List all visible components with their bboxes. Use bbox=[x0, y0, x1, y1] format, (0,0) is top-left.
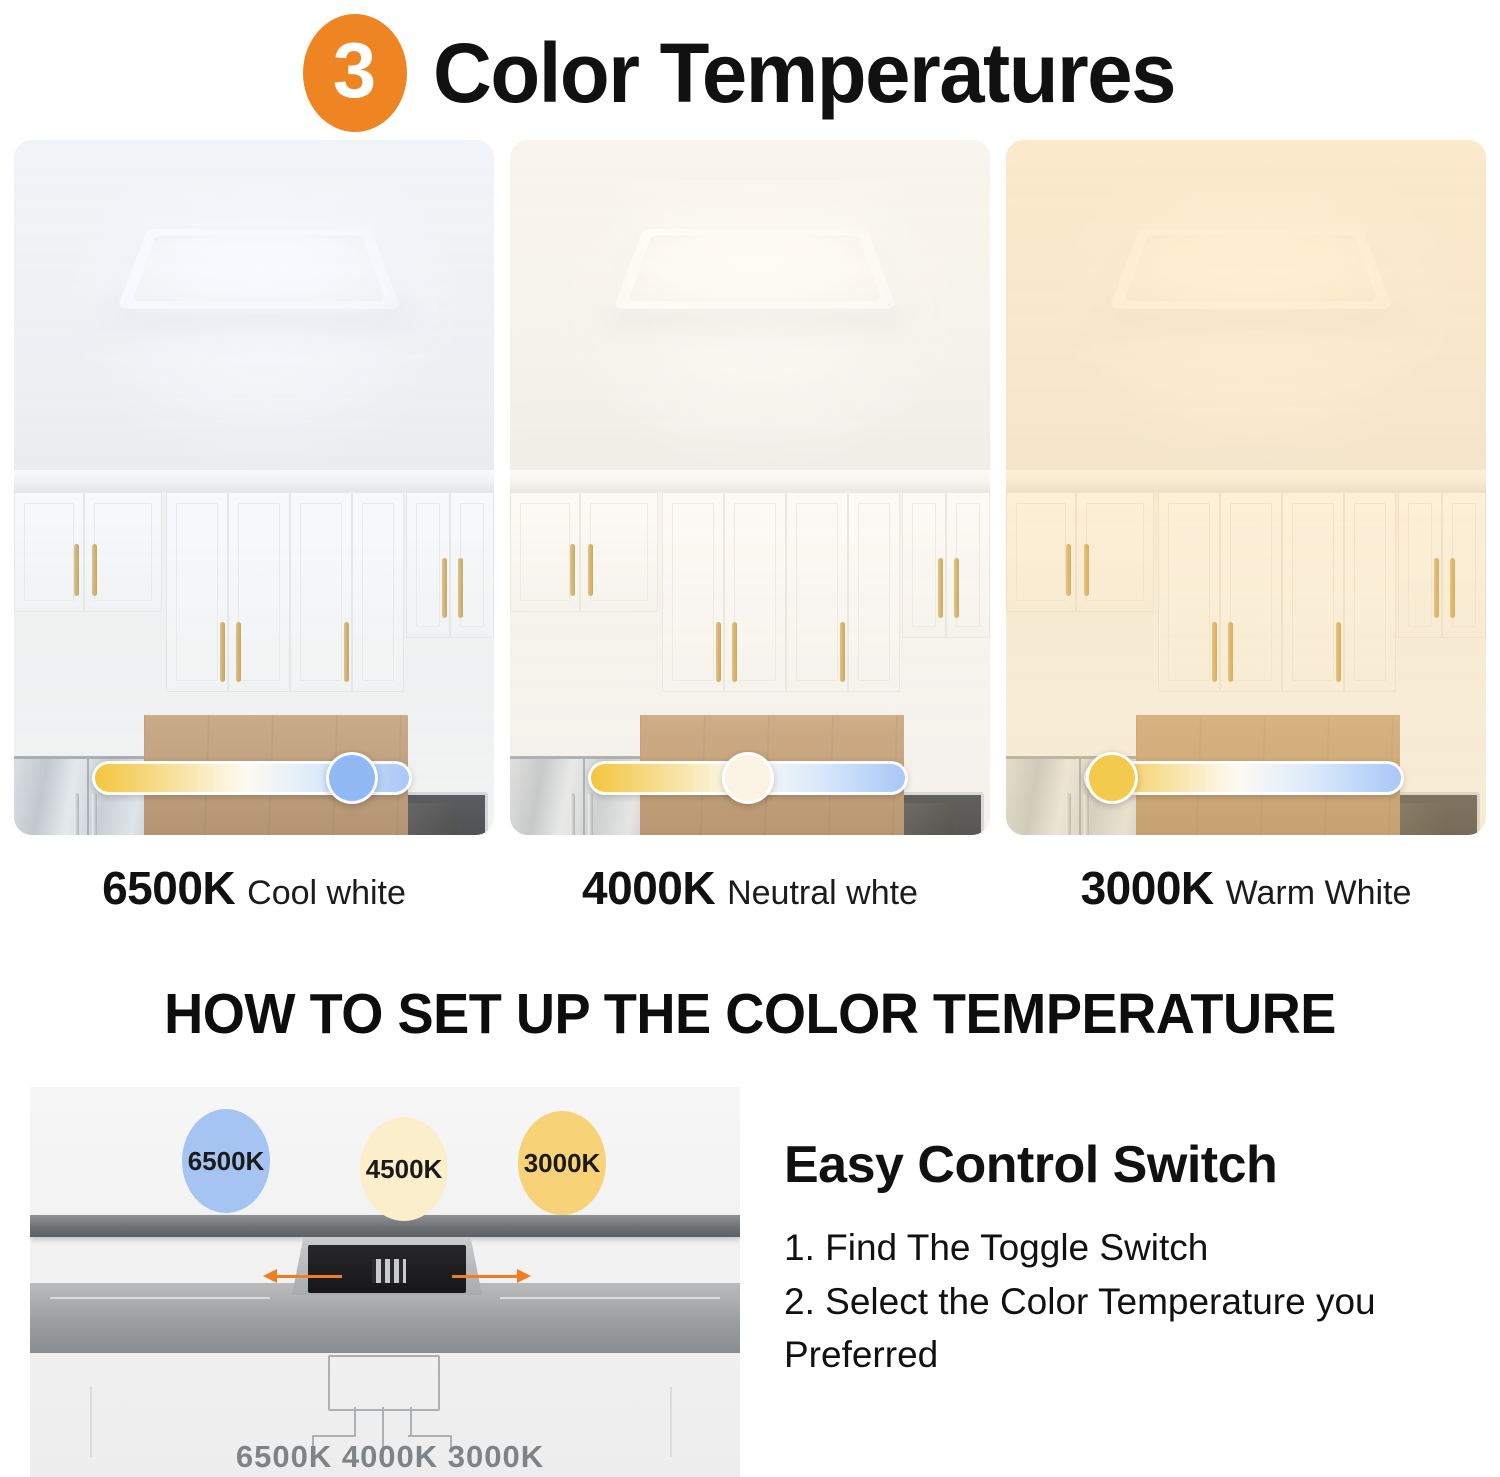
bubble-6500k: 6500K bbox=[182, 1109, 270, 1213]
switch-diagram: 6500K 4500K 3000K 6500K 4000K 3000K bbox=[30, 1087, 740, 1477]
kitchen-scene bbox=[14, 140, 494, 835]
instructions-steps: 1. Find The Toggle Switch 2. Select the … bbox=[784, 1221, 1460, 1382]
howto-section: 6500K 4500K 3000K 6500K 4000K 3000K Easy… bbox=[0, 1047, 1500, 1477]
caption-name: Neutral whte bbox=[727, 874, 918, 913]
panel-3000k: 3000K Warm White bbox=[1006, 140, 1486, 915]
howto-heading: HOW TO SET UP THE COLOR TEMPERATURE bbox=[38, 981, 1463, 1047]
bubble-label: 6500K bbox=[188, 1146, 265, 1177]
panel-caption: 6500K Cool white bbox=[14, 861, 494, 915]
led-ceiling-panel-icon bbox=[630, 200, 880, 328]
count-badge: 3 bbox=[303, 14, 407, 132]
panel-caption: 4000K Neutral whte bbox=[510, 861, 990, 915]
kitchen-photo-warm bbox=[1006, 140, 1486, 835]
kitchen-photo-cool bbox=[14, 140, 494, 835]
arrow-right-icon bbox=[452, 1275, 518, 1278]
arrow-left-icon bbox=[276, 1275, 342, 1278]
led-ceiling-panel-icon bbox=[134, 200, 384, 328]
badge-number: 3 bbox=[333, 31, 376, 109]
color-temperature-panels: 6500K Cool white bbox=[0, 140, 1500, 915]
slider-knob[interactable] bbox=[1086, 752, 1138, 804]
bubble-4500k: 4500K bbox=[360, 1117, 448, 1221]
bubble-label: 4500K bbox=[366, 1154, 443, 1185]
page-header: 3 Color Temperatures bbox=[0, 0, 1500, 140]
kitchen-scene bbox=[1006, 140, 1486, 835]
printed-kelvin-labels: 6500K 4000K 3000K bbox=[230, 1439, 550, 1475]
instructions-title: Easy Control Switch bbox=[784, 1135, 1460, 1195]
kitchen-photo-neutral bbox=[510, 140, 990, 835]
led-ceiling-panel-icon bbox=[1126, 200, 1376, 328]
slider-knob[interactable] bbox=[722, 752, 774, 804]
temperature-slider-6500k[interactable] bbox=[92, 761, 412, 795]
kitchen-scene bbox=[510, 140, 990, 835]
caption-kelvin: 4000K bbox=[582, 861, 715, 915]
temperature-slider-4000k[interactable] bbox=[588, 761, 908, 795]
caption-kelvin: 3000K bbox=[1081, 861, 1214, 915]
instruction-step: 2. Select the Color Temperature you Pref… bbox=[784, 1275, 1424, 1382]
temperature-slider-3000k[interactable] bbox=[1084, 761, 1404, 795]
instructions-column: Easy Control Switch 1. Find The Toggle S… bbox=[784, 1087, 1460, 1382]
caption-kelvin: 6500K bbox=[102, 861, 235, 915]
printed-schematic bbox=[288, 1355, 488, 1439]
panel-4000k: 4000K Neutral whte bbox=[510, 140, 990, 915]
instruction-step: 1. Find The Toggle Switch bbox=[784, 1221, 1424, 1275]
page-title: Color Temperatures bbox=[433, 25, 1175, 122]
slider-knob[interactable] bbox=[326, 752, 378, 804]
panel-6500k: 6500K Cool white bbox=[14, 140, 494, 915]
caption-name: Cool white bbox=[247, 874, 406, 913]
panel-caption: 3000K Warm White bbox=[1006, 861, 1486, 915]
caption-name: Warm White bbox=[1226, 874, 1412, 913]
bubble-3000k: 3000K bbox=[518, 1111, 606, 1215]
bubble-label: 3000K bbox=[524, 1148, 601, 1179]
